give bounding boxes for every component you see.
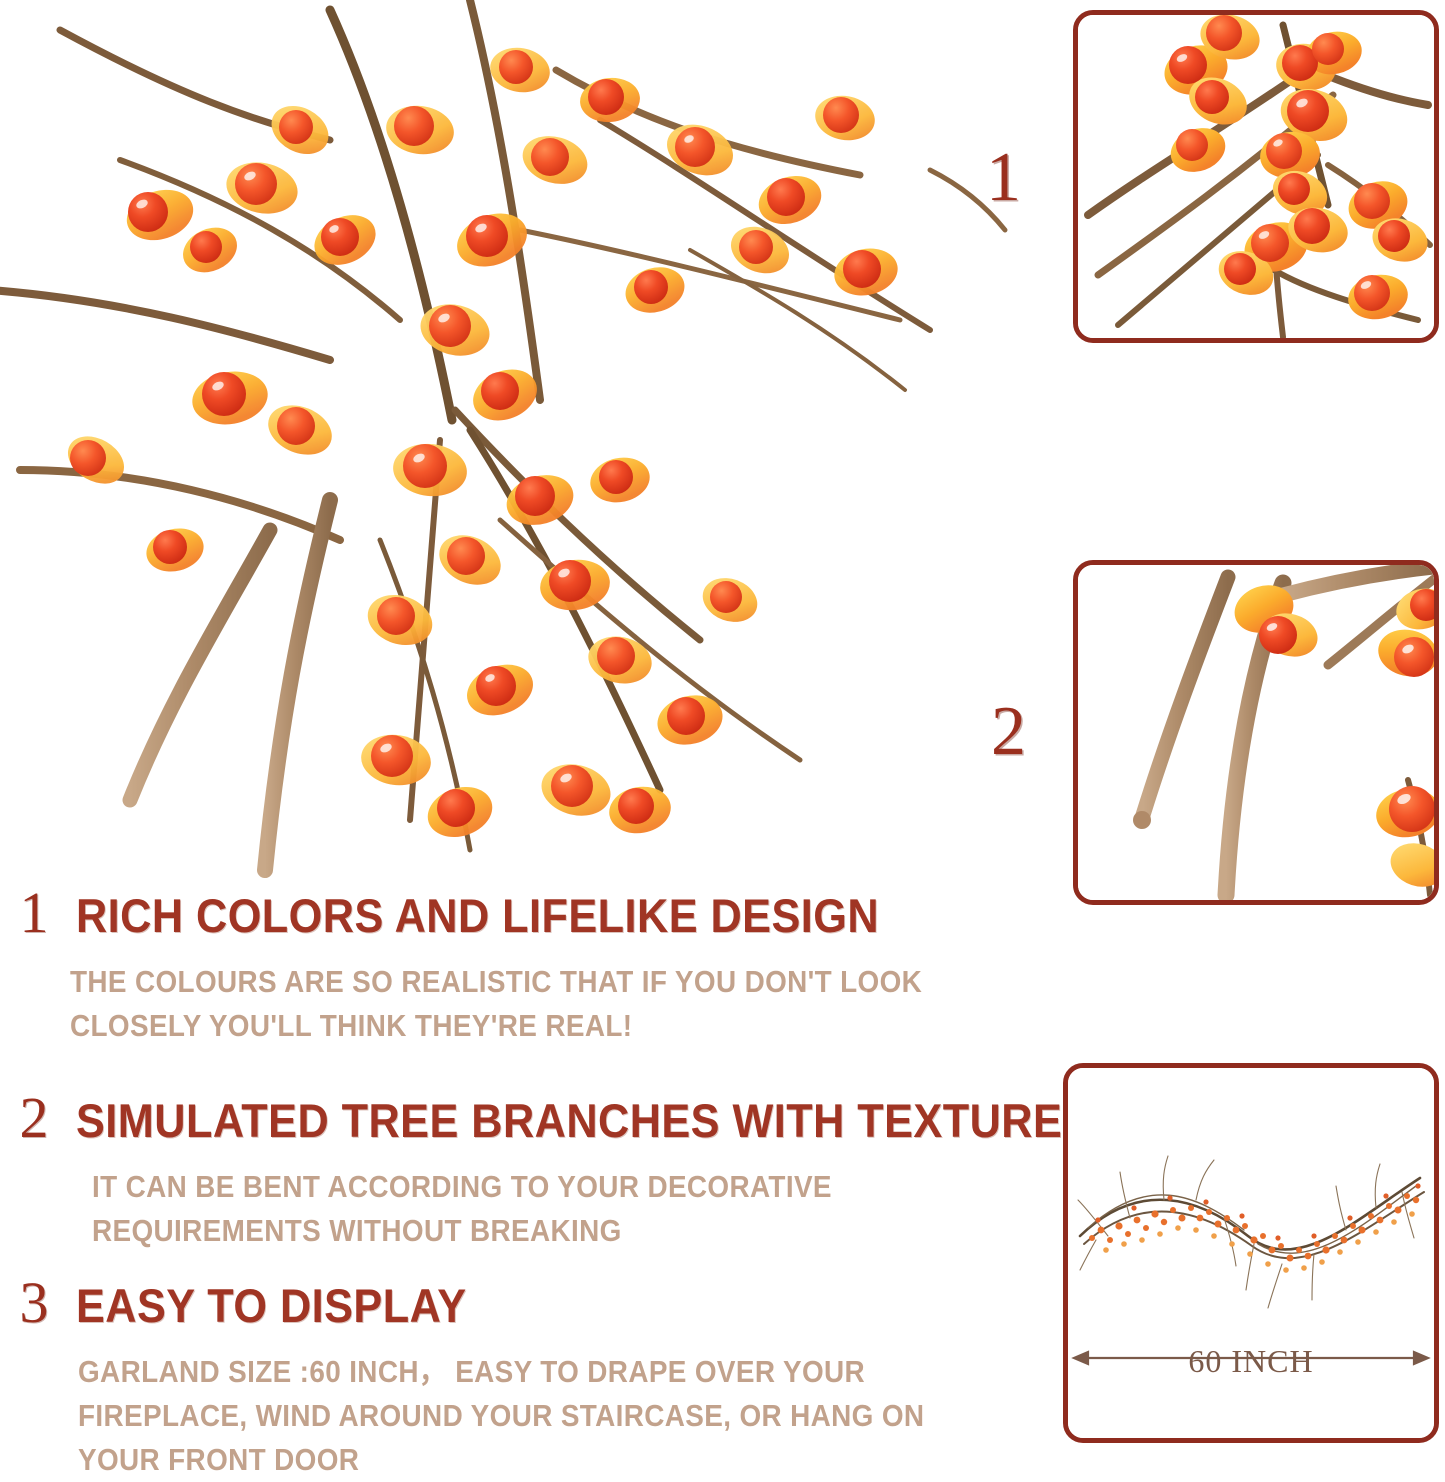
berry-detail-panel: [1073, 10, 1439, 343]
feature-1-heading: 1 RICH COLORS AND LIFELIKE DESIGN: [0, 884, 1030, 942]
feature-item-1: 1 RICH COLORS AND LIFELIKE DESIGN THE CO…: [0, 884, 1030, 1048]
panel-1-number: 1: [986, 143, 1021, 213]
feature-3-body: GARLAND SIZE :60 INCH， EASY TO DRAPE OVE…: [78, 1350, 935, 1482]
branch-texture-illustration: [1078, 565, 1434, 900]
feature-2-title: SIMULATED TREE BRANCHES WITH TEXTURE: [76, 1097, 1062, 1144]
garland-size-illustration: [1068, 1068, 1434, 1438]
feature-2-body: IT CAN BE BENT ACCORDING TO YOUR DECORAT…: [92, 1165, 936, 1253]
branch-texture-panel: [1073, 560, 1439, 905]
feature-2-number: 2: [14, 1089, 54, 1147]
berry-detail-illustration: [1078, 15, 1434, 338]
panel-2-number: 2: [991, 697, 1026, 767]
feature-3-number: 3: [14, 1274, 54, 1332]
feature-3-heading: 3 EASY TO DISPLAY: [0, 1274, 1030, 1332]
feature-1-title: RICH COLORS AND LIFELIKE DESIGN: [76, 892, 879, 939]
feature-item-2: 2 SIMULATED TREE BRANCHES WITH TEXTURE I…: [0, 1089, 1030, 1253]
garland-size-panel: 60 INCH: [1063, 1063, 1439, 1443]
hero-illustration: [0, 0, 1010, 880]
feature-list: 1 RICH COLORS AND LIFELIKE DESIGN THE CO…: [0, 884, 1030, 1453]
feature-2-heading: 2 SIMULATED TREE BRANCHES WITH TEXTURE: [0, 1089, 1030, 1147]
feature-1-body: THE COLOURS ARE SO REALISTIC THAT IF YOU…: [70, 960, 934, 1048]
hero-product-image: [0, 0, 1010, 880]
feature-item-3: 3 EASY TO DISPLAY GARLAND SIZE :60 INCH，…: [0, 1274, 1030, 1482]
feature-3-title: EASY TO DISPLAY: [76, 1282, 467, 1329]
feature-1-number: 1: [14, 884, 54, 942]
